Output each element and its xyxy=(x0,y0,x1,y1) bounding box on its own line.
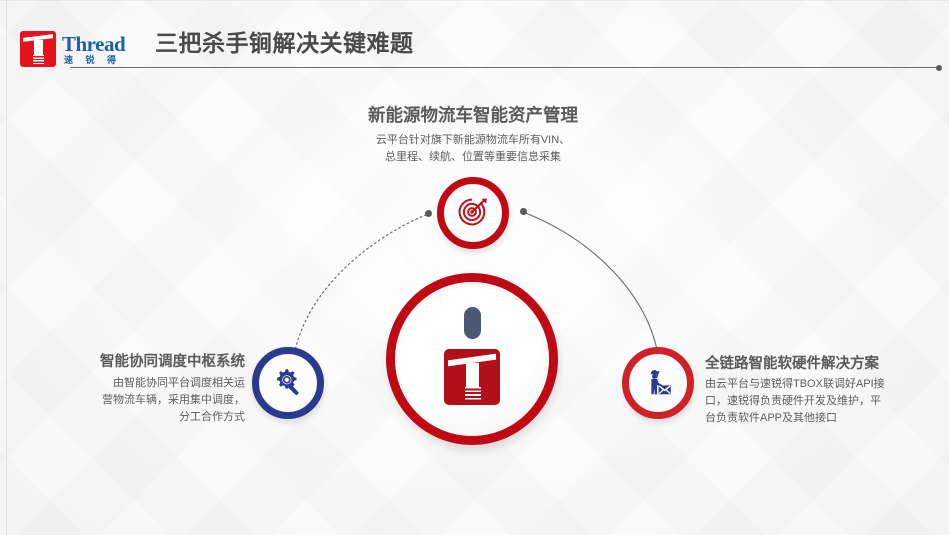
center-node[interactable] xyxy=(386,273,558,445)
software-hardware-body: 由云平台与速锐得TBOX联调好API接 口，速锐得负责硬件开发及维护，平 台负责… xyxy=(705,376,930,427)
gear-wrench-icon xyxy=(252,347,324,419)
software-hardware-title: 全链路智能软硬件解决方案 xyxy=(705,355,930,373)
node-dispatch-system[interactable] xyxy=(252,347,324,419)
center-logo-stem xyxy=(466,363,479,387)
slide-canvas: Thread 速 锐 得 三把杀手锏解决关键难题 xyxy=(0,0,949,535)
connector-dot-top-left xyxy=(425,210,432,217)
node-software-hardware-solution[interactable] xyxy=(622,347,694,419)
mouse-body-pill-icon xyxy=(464,307,481,339)
connector-lines xyxy=(0,0,949,535)
text-block-software-hardware: 全链路智能软硬件解决方案 由云平台与速锐得TBOX联调好API接 口，速锐得负责… xyxy=(705,355,930,427)
center-logo-lines xyxy=(465,387,481,400)
target-dartboard-icon xyxy=(437,177,509,249)
dispatch-system-title: 智能协同调度中枢系统 xyxy=(30,353,245,371)
asset-management-body: 云平台针对旗下新能源物流车所有VIN、 总里程、续航、位置等重要信息采集 xyxy=(318,132,628,166)
dispatch-system-body: 由智能协同平台调度相关运 营物流车辆，采用集中调度， 分工合作方式 xyxy=(30,375,245,426)
text-block-dispatch-system: 智能协同调度中枢系统 由智能协同平台调度相关运 营物流车辆，采用集中调度， 分工… xyxy=(30,353,245,426)
text-block-asset-management: 新能源物流车智能资产管理 云平台针对旗下新能源物流车所有VIN、 总里程、续航、… xyxy=(318,105,628,166)
node-asset-management[interactable] xyxy=(437,177,509,249)
asset-management-title: 新能源物流车智能资产管理 xyxy=(318,105,628,127)
connector-dot-top-right xyxy=(520,208,527,215)
thread-brand-mark-icon xyxy=(444,349,500,405)
worker-installation-icon xyxy=(622,347,694,419)
three-pillar-diagram: 新能源物流车智能资产管理 云平台针对旗下新能源物流车所有VIN、 总里程、续航、… xyxy=(0,0,949,535)
